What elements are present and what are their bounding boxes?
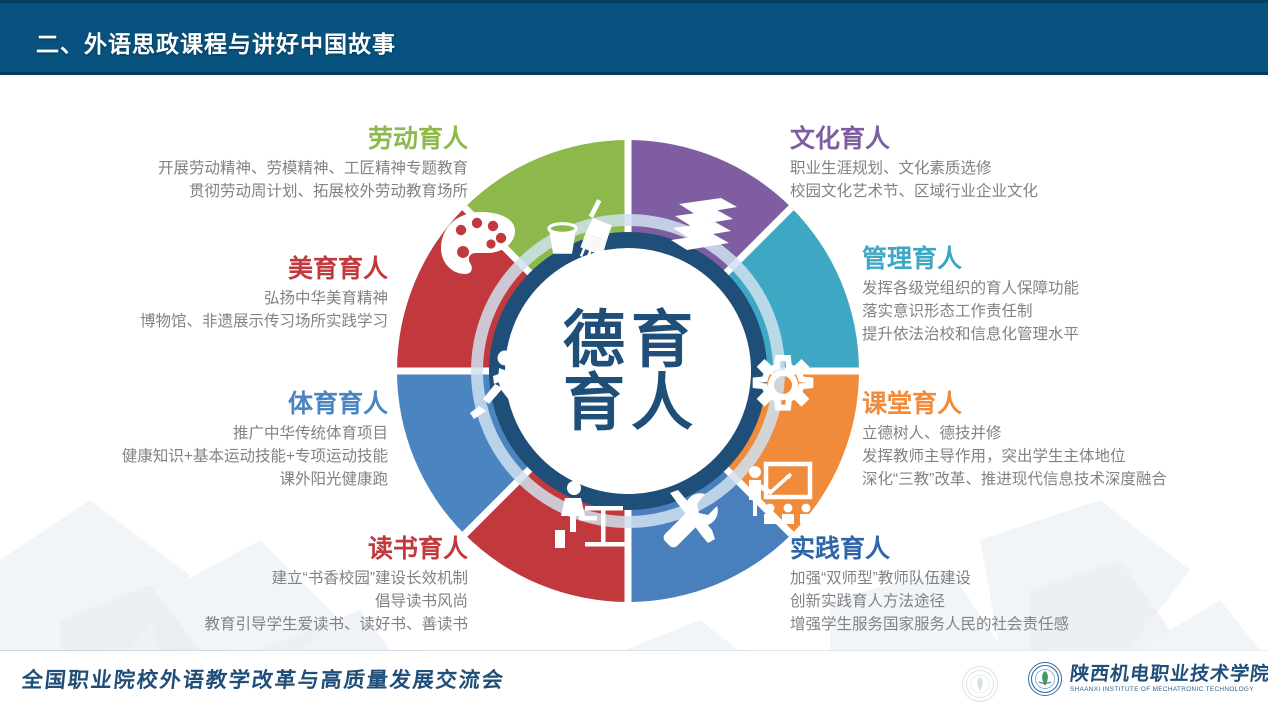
block-class-line-2: 发挥教师主导作用，突出学生主体地位	[862, 445, 1268, 468]
block-practice-title: 实践育人	[790, 535, 1260, 565]
block-class-line-3: 深化“三教”改革、推进现代信息技术深度融合	[862, 468, 1268, 491]
slide-header-bar: 二、外语思政课程与讲好中国故事	[0, 0, 1268, 75]
secondary-logo-icon	[962, 666, 998, 702]
slide-body: 德育 育人 劳动育人 开展劳动精神、劳模精神、工匠精神专题教育 贯彻劳动周计划、…	[0, 75, 1268, 650]
block-practice-line-2: 创新实践育人方法途径	[790, 590, 1260, 613]
block-culture-line-2: 校园文化艺术节、区域行业企业文化	[790, 180, 1260, 203]
block-aesthetic: 美育育人 弘扬中华美育精神 博物馆、非遗展示传习场所实践学习	[0, 255, 388, 333]
block-reading: 读书育人 建立“书香校园”建设长效机制 倡导读书风尚 教育引导学生爱读书、读好书…	[0, 535, 468, 636]
block-practice-line-1: 加强“双师型”教师队伍建设	[790, 567, 1260, 590]
block-culture-title: 文化育人	[790, 125, 1260, 155]
block-manage: 管理育人 发挥各级党组织的育人保障功能 落实意识形态工作责任制 提升依法治校和信…	[862, 245, 1262, 346]
block-labor: 劳动育人 开展劳动精神、劳模精神、工匠精神专题教育 贯彻劳动周计划、拓展校外劳动…	[0, 125, 468, 203]
deyu-wheel-diagram	[397, 140, 859, 602]
block-class-title: 课堂育人	[862, 390, 1268, 420]
block-reading-line-3: 教育引导学生爱读书、读好书、善读书	[0, 613, 468, 636]
block-culture: 文化育人 职业生涯规划、文化素质选修 校园文化艺术节、区域行业企业文化	[790, 125, 1260, 203]
block-aesthetic-title: 美育育人	[0, 255, 388, 285]
institute-name-en: SHAANXI INSTITUTE OF MECHATRONIC TECHNOL…	[1070, 687, 1268, 693]
block-practice: 实践育人 加强“双师型”教师队伍建设 创新实践育人方法途径 增强学生服务国家服务…	[790, 535, 1260, 636]
block-practice-line-3: 增强学生服务国家服务人民的社会责任感	[790, 613, 1260, 636]
center-ring	[497, 240, 759, 502]
block-reading-title: 读书育人	[0, 535, 468, 565]
block-sport-line-3: 课外阳光健康跑	[0, 468, 388, 491]
institute-name-cn: 陕西机电职业技术学院	[1069, 665, 1268, 684]
block-manage-title: 管理育人	[862, 245, 1262, 275]
block-manage-line-3: 提升依法治校和信息化管理水平	[862, 323, 1262, 346]
block-manage-line-1: 发挥各级党组织的育人保障功能	[862, 277, 1262, 300]
block-labor-line-2: 贯彻劳动周计划、拓展校外劳动教育场所	[0, 180, 468, 203]
page-title: 二、外语思政课程与讲好中国故事	[36, 25, 396, 59]
block-sport: 体育育人 推广中华传统体育项目 健康知识+基本运动技能+专项运动技能 课外阳光健…	[0, 390, 388, 491]
block-sport-line-1: 推广中华传统体育项目	[0, 422, 388, 445]
block-labor-line-1: 开展劳动精神、劳模精神、工匠精神专题教育	[0, 157, 468, 180]
block-reading-line-2: 倡导读书风尚	[0, 590, 468, 613]
institute-logo: 陕西机电职业技术学院 SHAANXI INSTITUTE OF MECHATRO…	[1028, 662, 1268, 696]
block-reading-line-1: 建立“书香校园”建设长效机制	[0, 567, 468, 590]
block-class: 课堂育人 立德树人、德技并修 发挥教师主导作用，突出学生主体地位 深化“三教”改…	[862, 390, 1268, 491]
institute-emblem-icon	[1028, 662, 1062, 696]
block-sport-title: 体育育人	[0, 390, 388, 420]
block-culture-line-1: 职业生涯规划、文化素质选修	[790, 157, 1260, 180]
conference-name: 全国职业院校外语教学改革与高质量发展交流会	[20, 664, 506, 694]
block-manage-line-2: 落实意识形态工作责任制	[862, 300, 1262, 323]
footer-divider	[0, 650, 1268, 651]
block-sport-line-2: 健康知识+基本运动技能+专项运动技能	[0, 445, 388, 468]
block-aesthetic-line-1: 弘扬中华美育精神	[0, 287, 388, 310]
block-labor-title: 劳动育人	[0, 125, 468, 155]
block-class-line-1: 立德树人、德技并修	[862, 422, 1268, 445]
block-aesthetic-line-2: 博物馆、非遗展示传习场所实践学习	[0, 310, 388, 333]
